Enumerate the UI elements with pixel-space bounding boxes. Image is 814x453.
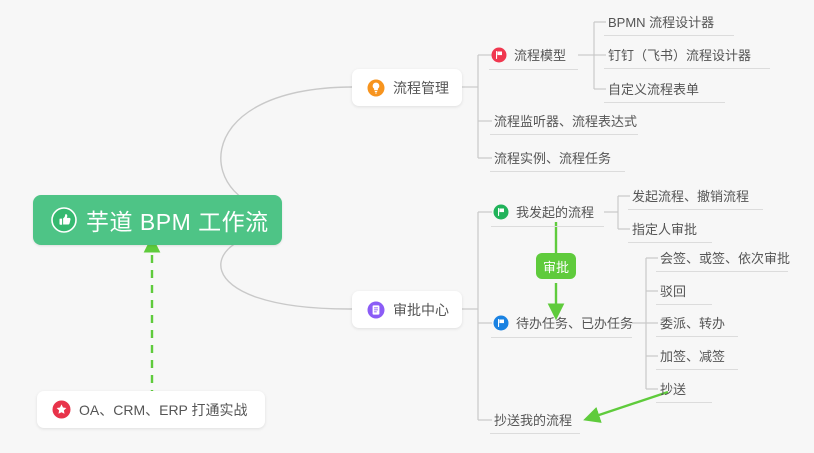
leaf-bpmn-designer[interactable]: BPMN 流程设计器 (604, 7, 734, 36)
label-my-initiated-flows: 我发起的流程 (516, 202, 594, 221)
leaf-label: BPMN 流程设计器 (608, 12, 714, 31)
leaf-delegate-transfer[interactable]: 委派、转办 (656, 308, 738, 337)
branch-label-process-management: 流程管理 (393, 78, 449, 98)
leaf-start-cancel-flow[interactable]: 发起流程、撤销流程 (628, 181, 763, 210)
node-todo-done-tasks[interactable]: 待办任务、已办任务 (491, 308, 632, 338)
leaf-label: 会签、或签、依次审批 (660, 248, 790, 267)
leaf-reject[interactable]: 驳回 (656, 276, 712, 305)
leaf-label: 抄送我的流程 (494, 410, 572, 429)
leaf-custom-form[interactable]: 自定义流程表单 (604, 74, 725, 103)
leaf-label: 自定义流程表单 (608, 79, 699, 98)
thumbs-up-icon (51, 207, 77, 233)
flow-tag-approval[interactable]: 审批 (536, 253, 576, 279)
flow-tag-label: 审批 (543, 257, 569, 276)
leaf-process-instance-task[interactable]: 流程实例、流程任务 (490, 143, 625, 172)
branch-node-process-management[interactable]: 流程管理 (352, 69, 462, 106)
leaf-label: 加签、减签 (660, 346, 725, 365)
mindmap-canvas: 芋道 BPM 工作流 OA、CRM、ERP 打通实战 流程管理 (0, 0, 814, 453)
leaf-add-remove-sign[interactable]: 加签、减签 (656, 341, 738, 370)
red-flag-icon (491, 47, 507, 63)
wire-root-to-process-management (221, 87, 352, 210)
blue-flag-icon (493, 315, 509, 331)
clipboard-icon (367, 301, 385, 319)
label-todo-done-tasks: 待办任务、已办任务 (516, 313, 633, 332)
root-label: 芋道 BPM 工作流 (86, 203, 269, 237)
leaf-label: 抄送 (660, 379, 686, 398)
star-icon (52, 400, 71, 419)
leaf-cc[interactable]: 抄送 (656, 374, 712, 403)
leaf-label: 钉钉（飞书）流程设计器 (608, 45, 751, 64)
leaf-label: 委派、转办 (660, 313, 725, 332)
node-my-initiated-flows[interactable]: 我发起的流程 (491, 197, 604, 227)
leaf-label: 发起流程、撤销流程 (632, 186, 749, 205)
node-process-model[interactable]: 流程模型 (489, 40, 578, 70)
lightbulb-icon (367, 79, 385, 97)
bottom-note-node[interactable]: OA、CRM、ERP 打通实战 (37, 391, 265, 428)
root-node[interactable]: 芋道 BPM 工作流 (33, 195, 282, 245)
leaf-assigned-approver[interactable]: 指定人审批 (628, 214, 712, 243)
bottom-note-label: OA、CRM、ERP 打通实战 (79, 400, 248, 420)
leaf-cc-to-me-flows[interactable]: 抄送我的流程 (490, 405, 580, 434)
branch-label-approval-center: 审批中心 (393, 300, 449, 320)
label-process-model: 流程模型 (514, 45, 566, 64)
leaf-label: 流程监听器、流程表达式 (494, 111, 637, 130)
leaf-countersign-approval[interactable]: 会签、或签、依次审批 (656, 243, 788, 272)
leaf-label: 指定人审批 (632, 219, 697, 238)
leaf-label: 驳回 (660, 281, 686, 300)
leaf-dingtalk-designer[interactable]: 钉钉（飞书）流程设计器 (604, 40, 770, 69)
branch-node-approval-center[interactable]: 审批中心 (352, 291, 462, 328)
leaf-process-listener-expression[interactable]: 流程监听器、流程表达式 (490, 106, 638, 135)
green-flag-icon (493, 204, 509, 220)
leaf-label: 流程实例、流程任务 (494, 148, 611, 167)
